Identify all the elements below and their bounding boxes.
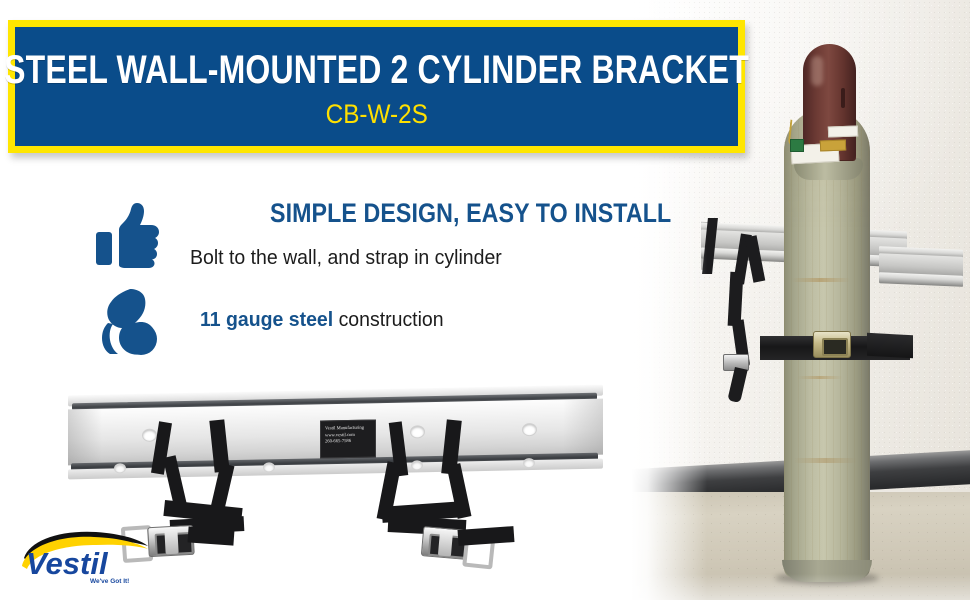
cylinder-rust-mark: [794, 458, 856, 463]
flexed-bicep-icon: [90, 284, 168, 362]
cylinder-green-tag: [790, 139, 804, 152]
cylinder-rust-mark: [798, 376, 842, 379]
header-banner: STEEL WALL-MOUNTED 2 CYLINDER BRACKET CB…: [8, 20, 745, 153]
feature-heading: SIMPLE DESIGN, EASY TO INSTALL: [270, 198, 671, 229]
strap-tail: [458, 526, 515, 546]
cylinder-hazard-label: [820, 140, 846, 152]
logo-tagline: We've Got It!: [90, 578, 129, 585]
header-banner-inner: STEEL WALL-MOUNTED 2 CYLINDER BRACKET CB…: [15, 27, 738, 146]
feature-body-strong: 11 gauge steel: [200, 308, 333, 331]
channel-shade-right: [563, 399, 603, 456]
feature-body-rest: construction: [333, 308, 443, 331]
strap-tail: [187, 526, 234, 545]
vestil-logo[interactable]: Vestil We've Got It!: [20, 528, 156, 588]
cylinder-rust-mark: [792, 278, 850, 282]
product-banner: STEEL WALL-MOUNTED 2 CYLINDER BRACKET CB…: [0, 0, 970, 600]
feature-body: 11 gauge steel construction: [200, 308, 444, 332]
channel-shade-left: [68, 409, 102, 466]
logo-wordmark: Vestil: [26, 546, 109, 581]
cylinder-label: [828, 125, 858, 137]
cap-slot: [841, 88, 845, 108]
strap-cam-buckle: [813, 331, 851, 358]
label-line-phone: 260-665-7586: [325, 438, 372, 445]
feature-body: Bolt to the wall, and strap in cylinder: [190, 246, 502, 270]
manufacturer-label: Vestil Manufacturing www.vestil.com 260-…: [320, 419, 376, 458]
thumbs-up-icon: [88, 196, 166, 274]
cap-highlight: [811, 56, 823, 86]
page-title: STEEL WALL-MOUNTED 2 CYLINDER BRACKET: [4, 50, 749, 90]
photo-bottom-fade: [617, 574, 970, 600]
cylinder-securing-strap: [867, 333, 913, 358]
model-number: CB-W-2S: [325, 101, 427, 128]
